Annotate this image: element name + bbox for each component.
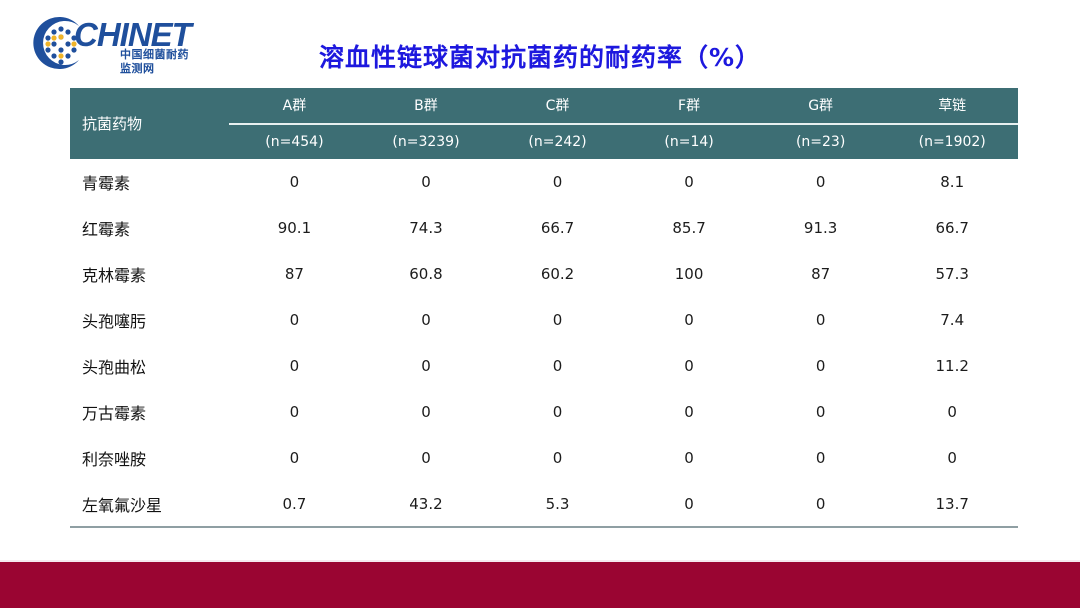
cell-value: 87 [229, 251, 361, 297]
cell-value: 57.3 [886, 251, 1018, 297]
table-header-row-groups: 抗菌药物 A群 B群 C群 F群 G群 草链 [70, 88, 1018, 122]
cell-value: 43.2 [360, 481, 492, 527]
column-header-drug: 抗菌药物 [70, 88, 229, 159]
column-header-group-0: A群 [229, 88, 361, 122]
cell-value: 0 [360, 343, 492, 389]
cell-value: 85.7 [623, 205, 755, 251]
table-row: 头孢噻肟 0 0 0 0 0 7.4 [70, 297, 1018, 343]
column-header-count-1: (n=3239) [360, 125, 492, 159]
cell-value: 0 [229, 435, 361, 481]
cell-value: 0 [886, 389, 1018, 435]
cell-value: 0 [755, 159, 887, 205]
row-label: 万古霉素 [70, 389, 229, 435]
cell-value: 0 [492, 159, 624, 205]
table-body: 青霉素 0 0 0 0 0 8.1 红霉素 90.1 74.3 66.7 85.… [70, 159, 1018, 527]
cell-value: 0 [755, 297, 887, 343]
cell-value: 0 [229, 343, 361, 389]
cell-value: 0 [229, 389, 361, 435]
cell-value: 0 [360, 297, 492, 343]
cell-value: 0 [623, 159, 755, 205]
cell-value: 7.4 [886, 297, 1018, 343]
cell-value: 87 [755, 251, 887, 297]
cell-value: 5.3 [492, 481, 624, 527]
column-header-group-5: 草链 [886, 88, 1018, 122]
column-header-count-4: (n=23) [755, 125, 887, 159]
table-row: 青霉素 0 0 0 0 0 8.1 [70, 159, 1018, 205]
cell-value: 0 [492, 297, 624, 343]
table-header: 抗菌药物 A群 B群 C群 F群 G群 草链 (n=454) (n=3239) … [70, 88, 1018, 159]
cell-value: 66.7 [886, 205, 1018, 251]
cell-value: 0 [886, 435, 1018, 481]
column-header-count-0: (n=454) [229, 125, 361, 159]
cell-value: 0 [492, 389, 624, 435]
cell-value: 0 [755, 343, 887, 389]
cell-value: 60.2 [492, 251, 624, 297]
cell-value: 11.2 [886, 343, 1018, 389]
column-header-count-3: (n=14) [623, 125, 755, 159]
cell-value: 90.1 [229, 205, 361, 251]
cell-value: 66.7 [492, 205, 624, 251]
cell-value: 0 [360, 159, 492, 205]
cell-value: 0 [360, 435, 492, 481]
column-header-group-4: G群 [755, 88, 887, 122]
cell-value: 0 [623, 297, 755, 343]
row-label: 红霉素 [70, 205, 229, 251]
cell-value: 0 [755, 435, 887, 481]
cell-value: 0 [229, 297, 361, 343]
table-row: 利奈唑胺 0 0 0 0 0 0 [70, 435, 1018, 481]
resistance-rate-table: 抗菌药物 A群 B群 C群 F群 G群 草链 (n=454) (n=3239) … [70, 88, 1018, 528]
table-row: 头孢曲松 0 0 0 0 0 11.2 [70, 343, 1018, 389]
row-label: 左氧氟沙星 [70, 481, 229, 527]
row-label: 利奈唑胺 [70, 435, 229, 481]
column-header-count-5: (n=1902) [886, 125, 1018, 159]
cell-value: 0 [755, 389, 887, 435]
row-label: 青霉素 [70, 159, 229, 205]
column-header-group-2: C群 [492, 88, 624, 122]
bottom-accent-bar [0, 562, 1080, 608]
table-row: 克林霉素 87 60.8 60.2 100 87 57.3 [70, 251, 1018, 297]
table-row: 左氧氟沙星 0.7 43.2 5.3 0 0 13.7 [70, 481, 1018, 527]
cell-value: 60.8 [360, 251, 492, 297]
cell-value: 0 [623, 481, 755, 527]
row-label: 头孢曲松 [70, 343, 229, 389]
cell-value: 13.7 [886, 481, 1018, 527]
row-label: 克林霉素 [70, 251, 229, 297]
cell-value: 0 [623, 343, 755, 389]
cell-value: 0 [229, 159, 361, 205]
cell-value: 0 [492, 435, 624, 481]
table-row: 万古霉素 0 0 0 0 0 0 [70, 389, 1018, 435]
cell-value: 74.3 [360, 205, 492, 251]
column-header-group-3: F群 [623, 88, 755, 122]
cell-value: 0 [360, 389, 492, 435]
cell-value: 0.7 [229, 481, 361, 527]
page-title: 溶血性链球菌对抗菌药的耐药率（%） [0, 38, 1080, 74]
cell-value: 8.1 [886, 159, 1018, 205]
row-label: 头孢噻肟 [70, 297, 229, 343]
cell-value: 100 [623, 251, 755, 297]
table-row: 红霉素 90.1 74.3 66.7 85.7 91.3 66.7 [70, 205, 1018, 251]
cell-value: 91.3 [755, 205, 887, 251]
cell-value: 0 [492, 343, 624, 389]
cell-value: 0 [623, 389, 755, 435]
cell-value: 0 [755, 481, 887, 527]
column-header-count-2: (n=242) [492, 125, 624, 159]
column-header-group-1: B群 [360, 88, 492, 122]
cell-value: 0 [623, 435, 755, 481]
